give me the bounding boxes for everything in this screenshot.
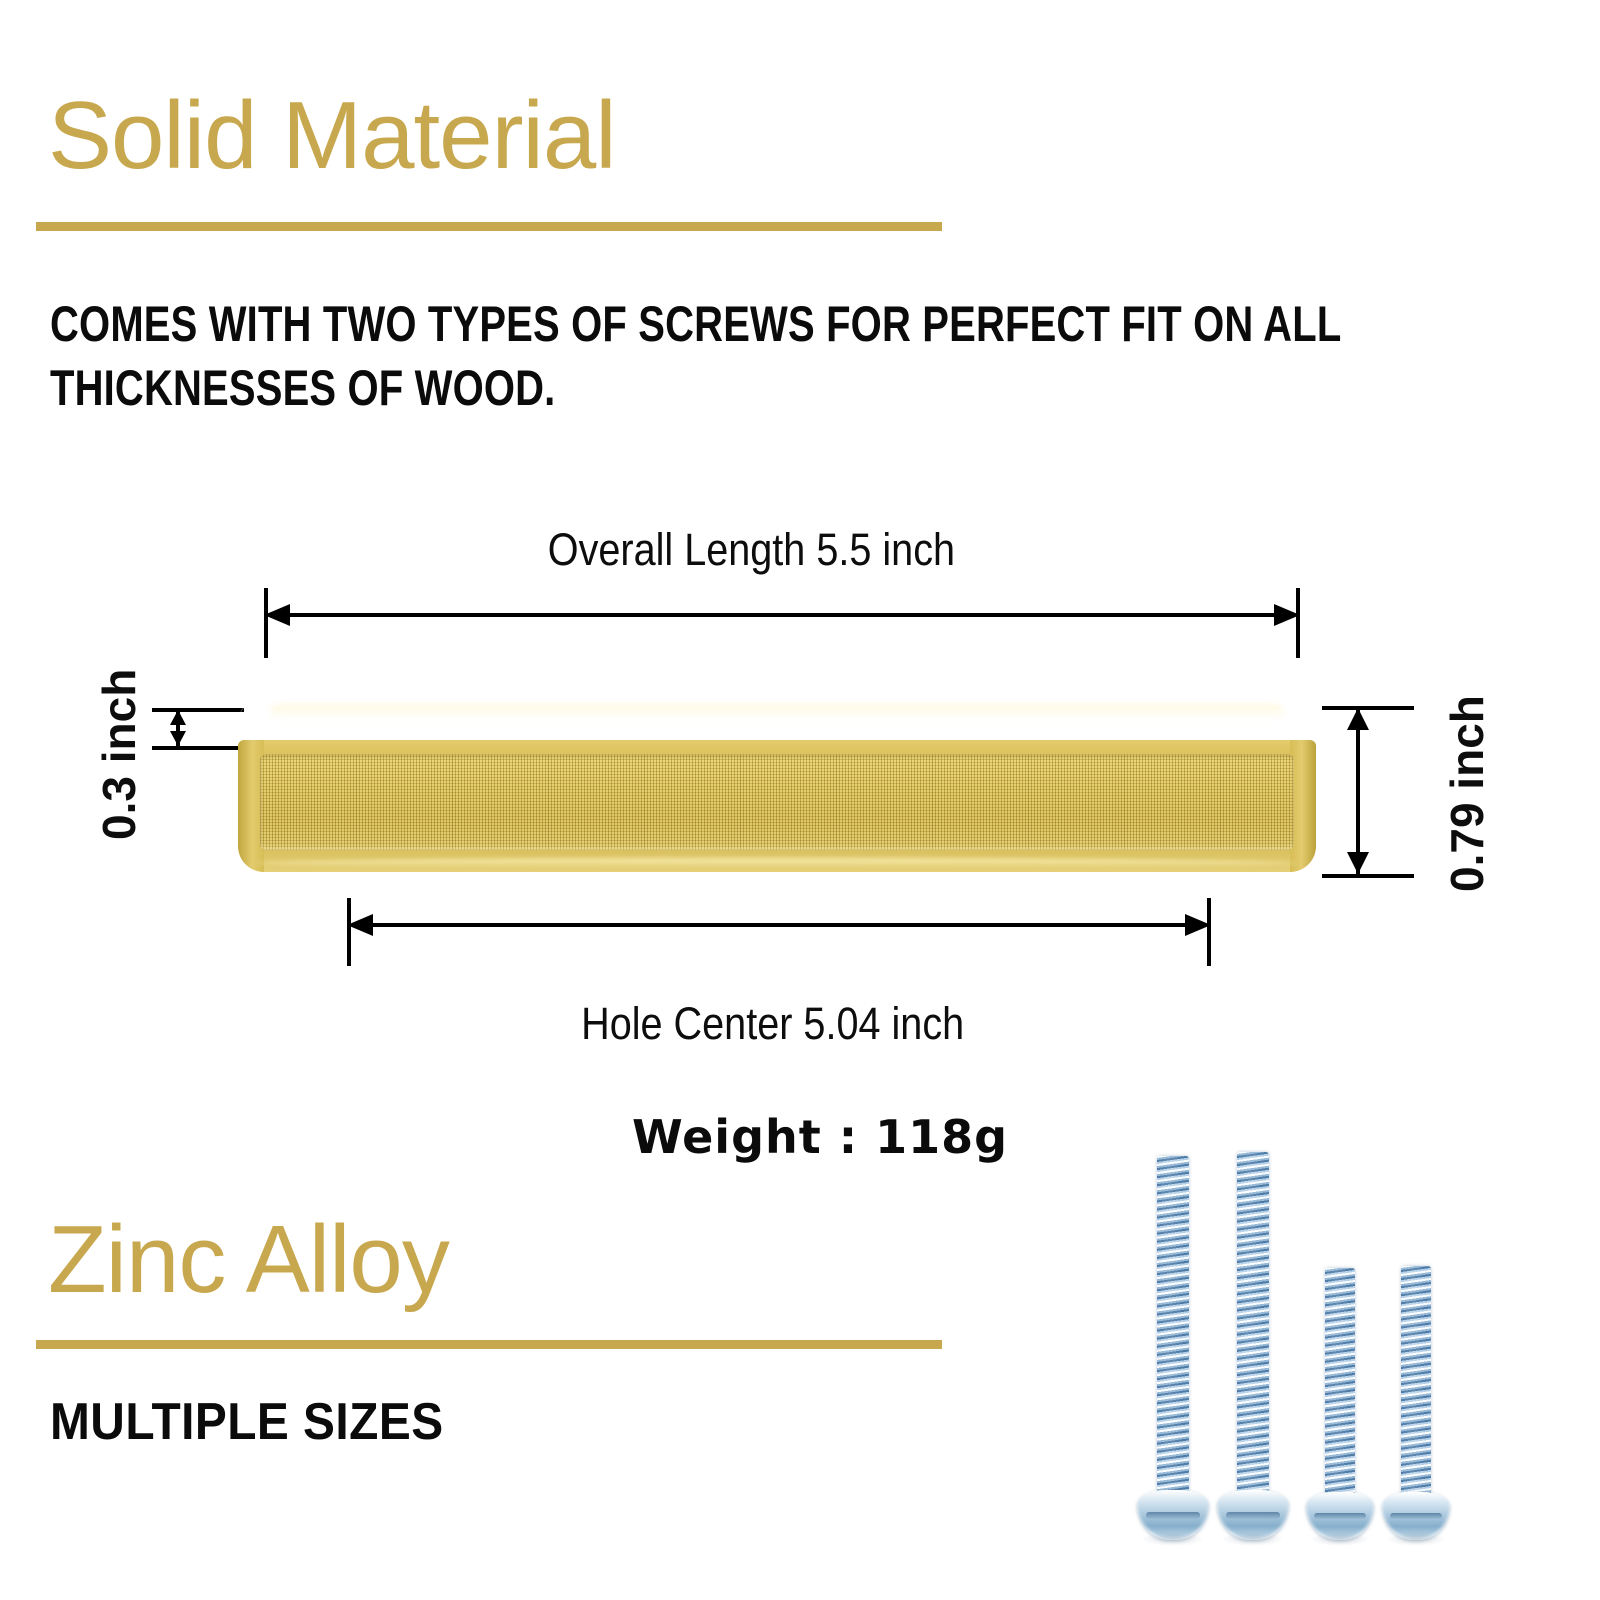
screw-shaft — [1325, 1268, 1355, 1494]
screw-shaft — [1401, 1266, 1431, 1494]
screw-shadow — [1310, 1532, 1370, 1546]
thickness-arrow-down — [170, 731, 186, 746]
top-body-text: COMES WITH TWO TYPES OF SCREWS FOR PERFE… — [50, 292, 1482, 420]
screw-shadow — [1142, 1532, 1205, 1546]
screw-slot-drive — [1390, 1513, 1442, 1519]
height-arrow-down — [1347, 852, 1369, 874]
hole-center-dim-line — [369, 923, 1189, 927]
screw-slot-drive — [1314, 1513, 1366, 1519]
hole-center-arrow-right — [1185, 914, 1211, 936]
overall-length-arrow-right — [1274, 604, 1300, 626]
hole-center-label: Hole Center 5.04 inch — [581, 998, 964, 1050]
list-item-long-screw-1 — [1152, 1156, 1194, 1540]
screw-slot-drive — [1146, 1512, 1201, 1519]
height-ext-bottom — [1322, 874, 1414, 878]
screw-shaft — [1237, 1152, 1269, 1492]
height-label: 0.79 inch — [1440, 695, 1494, 892]
handle-top-bevel — [238, 700, 1316, 748]
list-item-short-screw-2 — [1396, 1266, 1436, 1540]
list-item-long-screw-2 — [1232, 1152, 1274, 1540]
overall-length-arrow-left — [264, 604, 290, 626]
screw-shadow — [1222, 1532, 1285, 1546]
screw-shaft — [1157, 1156, 1189, 1492]
height-arrow-up — [1347, 708, 1369, 730]
hole-center-arrow-left — [347, 914, 373, 936]
overall-length-label: Overall Length 5.5 inch — [548, 524, 955, 576]
handle-top-sheen — [270, 704, 1283, 720]
thickness-ext-bottom — [152, 746, 244, 750]
product-handle-image — [238, 700, 1316, 872]
handle-bottom-highlight — [256, 858, 1298, 868]
section-heading-zinc-alloy: Zinc Alloy — [48, 1212, 449, 1308]
weight-label: Weight : 118g — [632, 1110, 1008, 1164]
handle-body — [238, 740, 1316, 872]
thickness-ext-top — [152, 708, 244, 712]
bottom-body-text: MULTIPLE SIZES — [50, 1392, 444, 1452]
heading-divider-bottom — [36, 1340, 942, 1349]
thickness-arrow-up — [170, 710, 186, 725]
overall-length-dim-line — [286, 613, 1278, 617]
list-item-short-screw-1 — [1320, 1268, 1360, 1540]
heading-divider-top — [36, 222, 942, 231]
section-heading-solid-material: Solid Material — [48, 88, 616, 184]
thickness-label: 0.3 inch — [92, 669, 146, 840]
screw-shadow — [1386, 1532, 1446, 1546]
screw-slot-drive — [1226, 1512, 1281, 1519]
handle-knurled-face — [260, 754, 1294, 850]
